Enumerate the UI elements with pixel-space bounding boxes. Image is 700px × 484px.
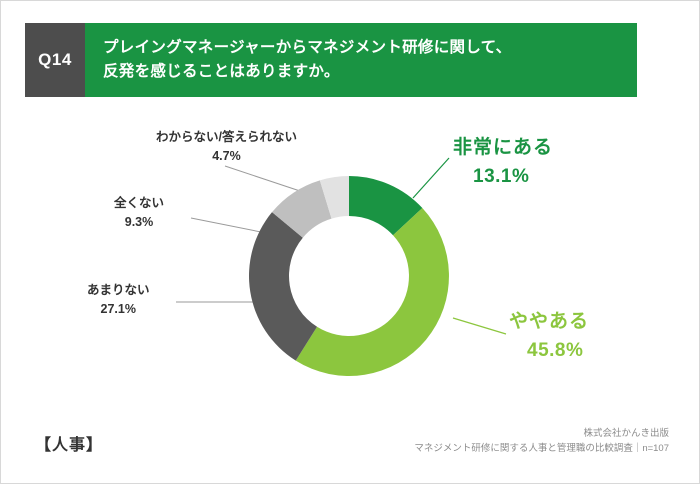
donut-slice-little <box>249 212 317 360</box>
category-tag: 【人事】 <box>35 431 103 455</box>
chart-area: わからない/答えられない 4.7% 全くない 9.3% あまりない 27.1% … <box>1 106 700 416</box>
source-credit: 株式会社かんき出版 マネジメント研修に関する人事と管理職の比較調査｜n=107 <box>414 426 669 457</box>
question-title-line1: プレイングマネージャーからマネジメント研修に関して、 <box>103 36 619 60</box>
label-little-name: あまりない <box>87 281 150 300</box>
label-unknown-name: わからない/答えられない <box>156 128 297 147</box>
label-unknown: わからない/答えられない 4.7% <box>156 128 297 166</box>
label-somewhat-name: ややある <box>509 308 589 337</box>
label-somewhat-value: 45.8% <box>509 337 589 366</box>
label-very-name: 非常にある <box>453 134 553 163</box>
source-credit-line2: マネジメント研修に関する人事と管理職の比較調査｜n=107 <box>414 441 669 457</box>
donut-chart <box>239 166 459 386</box>
donut-slice-somewhat <box>296 208 449 376</box>
label-somewhat: ややある 45.8% <box>509 308 589 365</box>
label-little-value: 27.1% <box>87 300 150 319</box>
label-little: あまりない 27.1% <box>87 281 150 319</box>
label-unknown-value: 4.7% <box>156 147 297 166</box>
donut-chart-svg <box>239 166 459 386</box>
label-none: 全くない 9.3% <box>114 194 164 232</box>
label-none-value: 9.3% <box>114 213 164 232</box>
question-title: プレイングマネージャーからマネジメント研修に関して、 反発を感じることはあります… <box>85 23 637 97</box>
label-very-value: 13.1% <box>453 163 553 192</box>
slide-root: Q14 プレイングマネージャーからマネジメント研修に関して、 反発を感じることは… <box>0 0 700 484</box>
label-very: 非常にある 13.1% <box>453 134 553 191</box>
source-credit-line1: 株式会社かんき出版 <box>414 426 669 442</box>
question-number-badge: Q14 <box>25 23 85 97</box>
question-title-line2: 反発を感じることはありますか。 <box>103 60 619 84</box>
label-none-name: 全くない <box>114 194 164 213</box>
question-header: Q14 プレイングマネージャーからマネジメント研修に関して、 反発を感じることは… <box>25 23 637 97</box>
